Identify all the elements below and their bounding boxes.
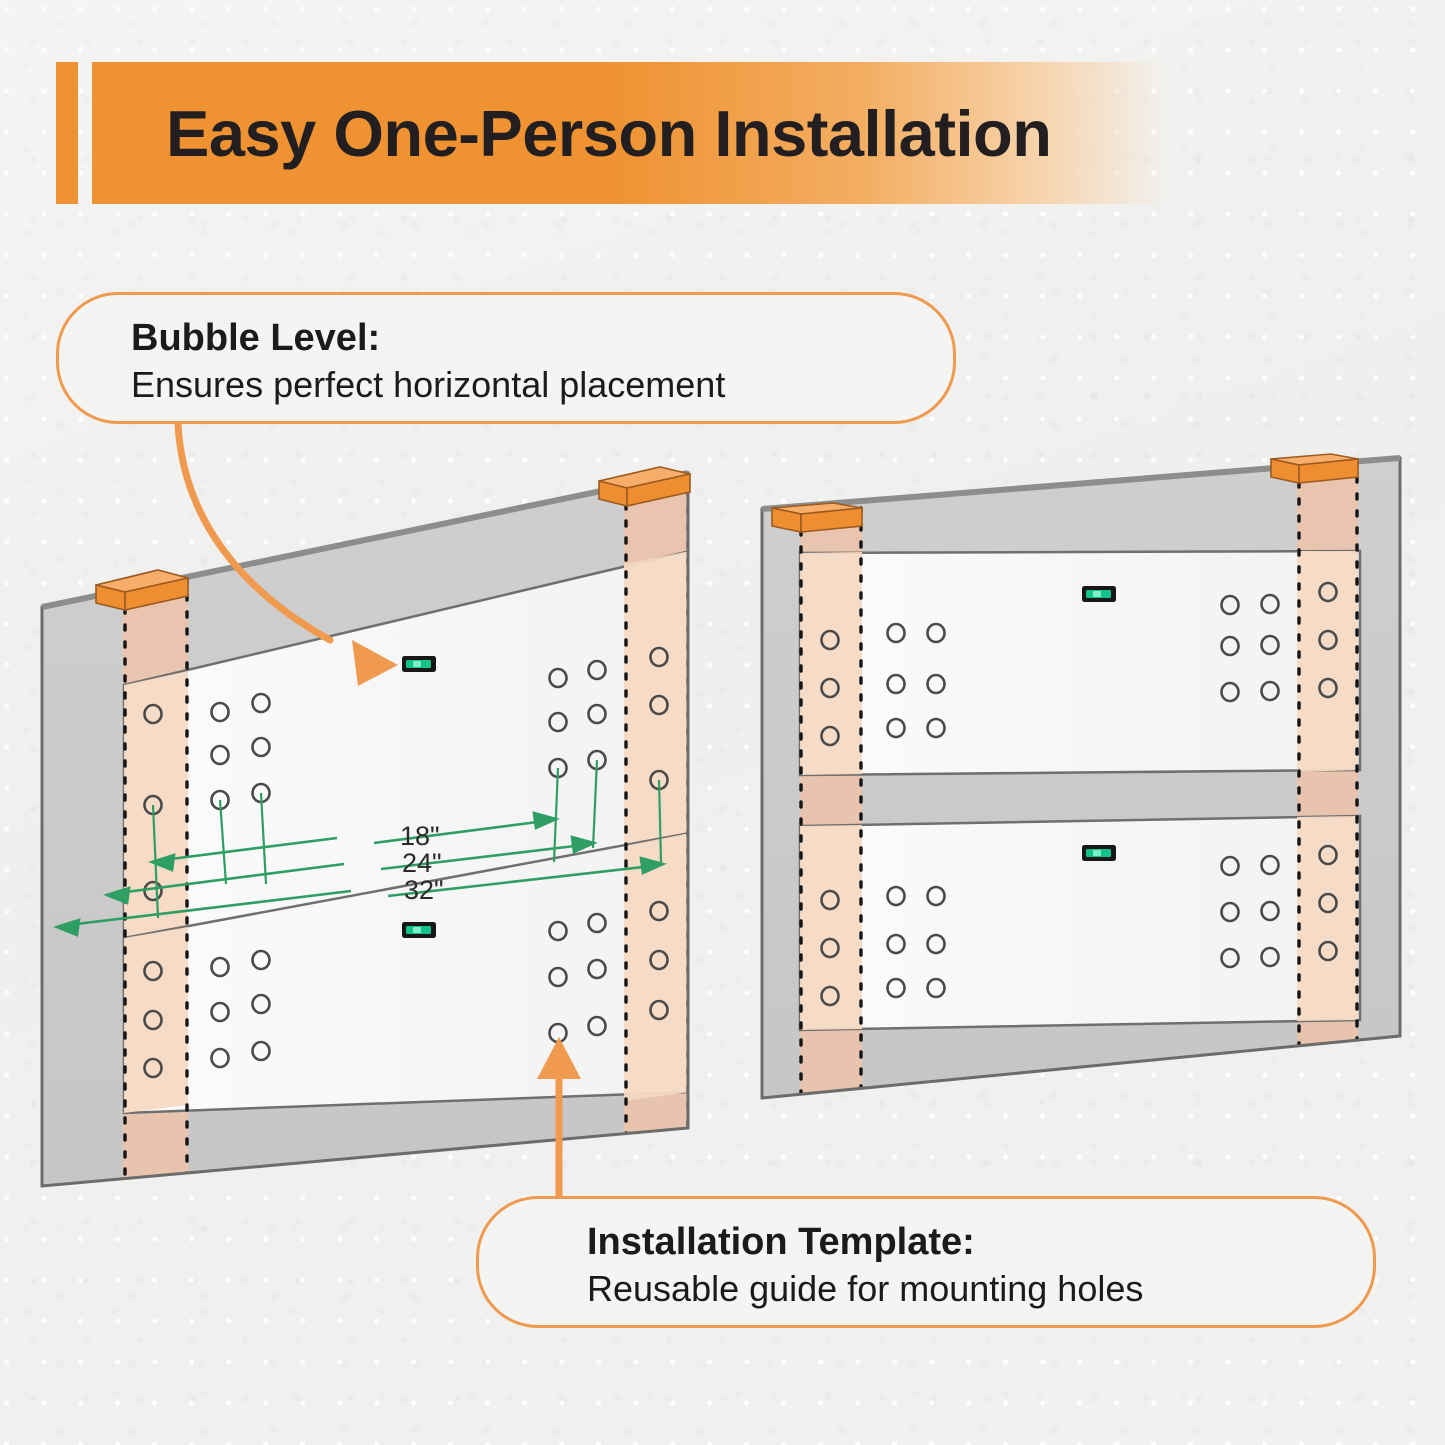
page-title: Easy One-Person Installation bbox=[166, 62, 1051, 204]
callout-bubble-level-title: Bubble Level: bbox=[131, 317, 907, 360]
bubble-level-pointer-arrow bbox=[178, 424, 398, 686]
callout-installation-template-body: Reusable guide for mounting holes bbox=[587, 1268, 1327, 1310]
title-banner: Easy One-Person Installation bbox=[56, 62, 1166, 204]
callout-installation-template-title: Installation Template: bbox=[587, 1221, 1327, 1264]
banner-accent-bar bbox=[56, 62, 78, 204]
installation-template-pointer-arrow bbox=[537, 1037, 581, 1196]
callout-bubble-level-body: Ensures perfect horizontal placement bbox=[131, 364, 907, 406]
callout-bubble-level: Bubble Level: Ensures perfect horizontal… bbox=[56, 292, 956, 424]
callout-installation-template: Installation Template: Reusable guide fo… bbox=[476, 1196, 1376, 1328]
